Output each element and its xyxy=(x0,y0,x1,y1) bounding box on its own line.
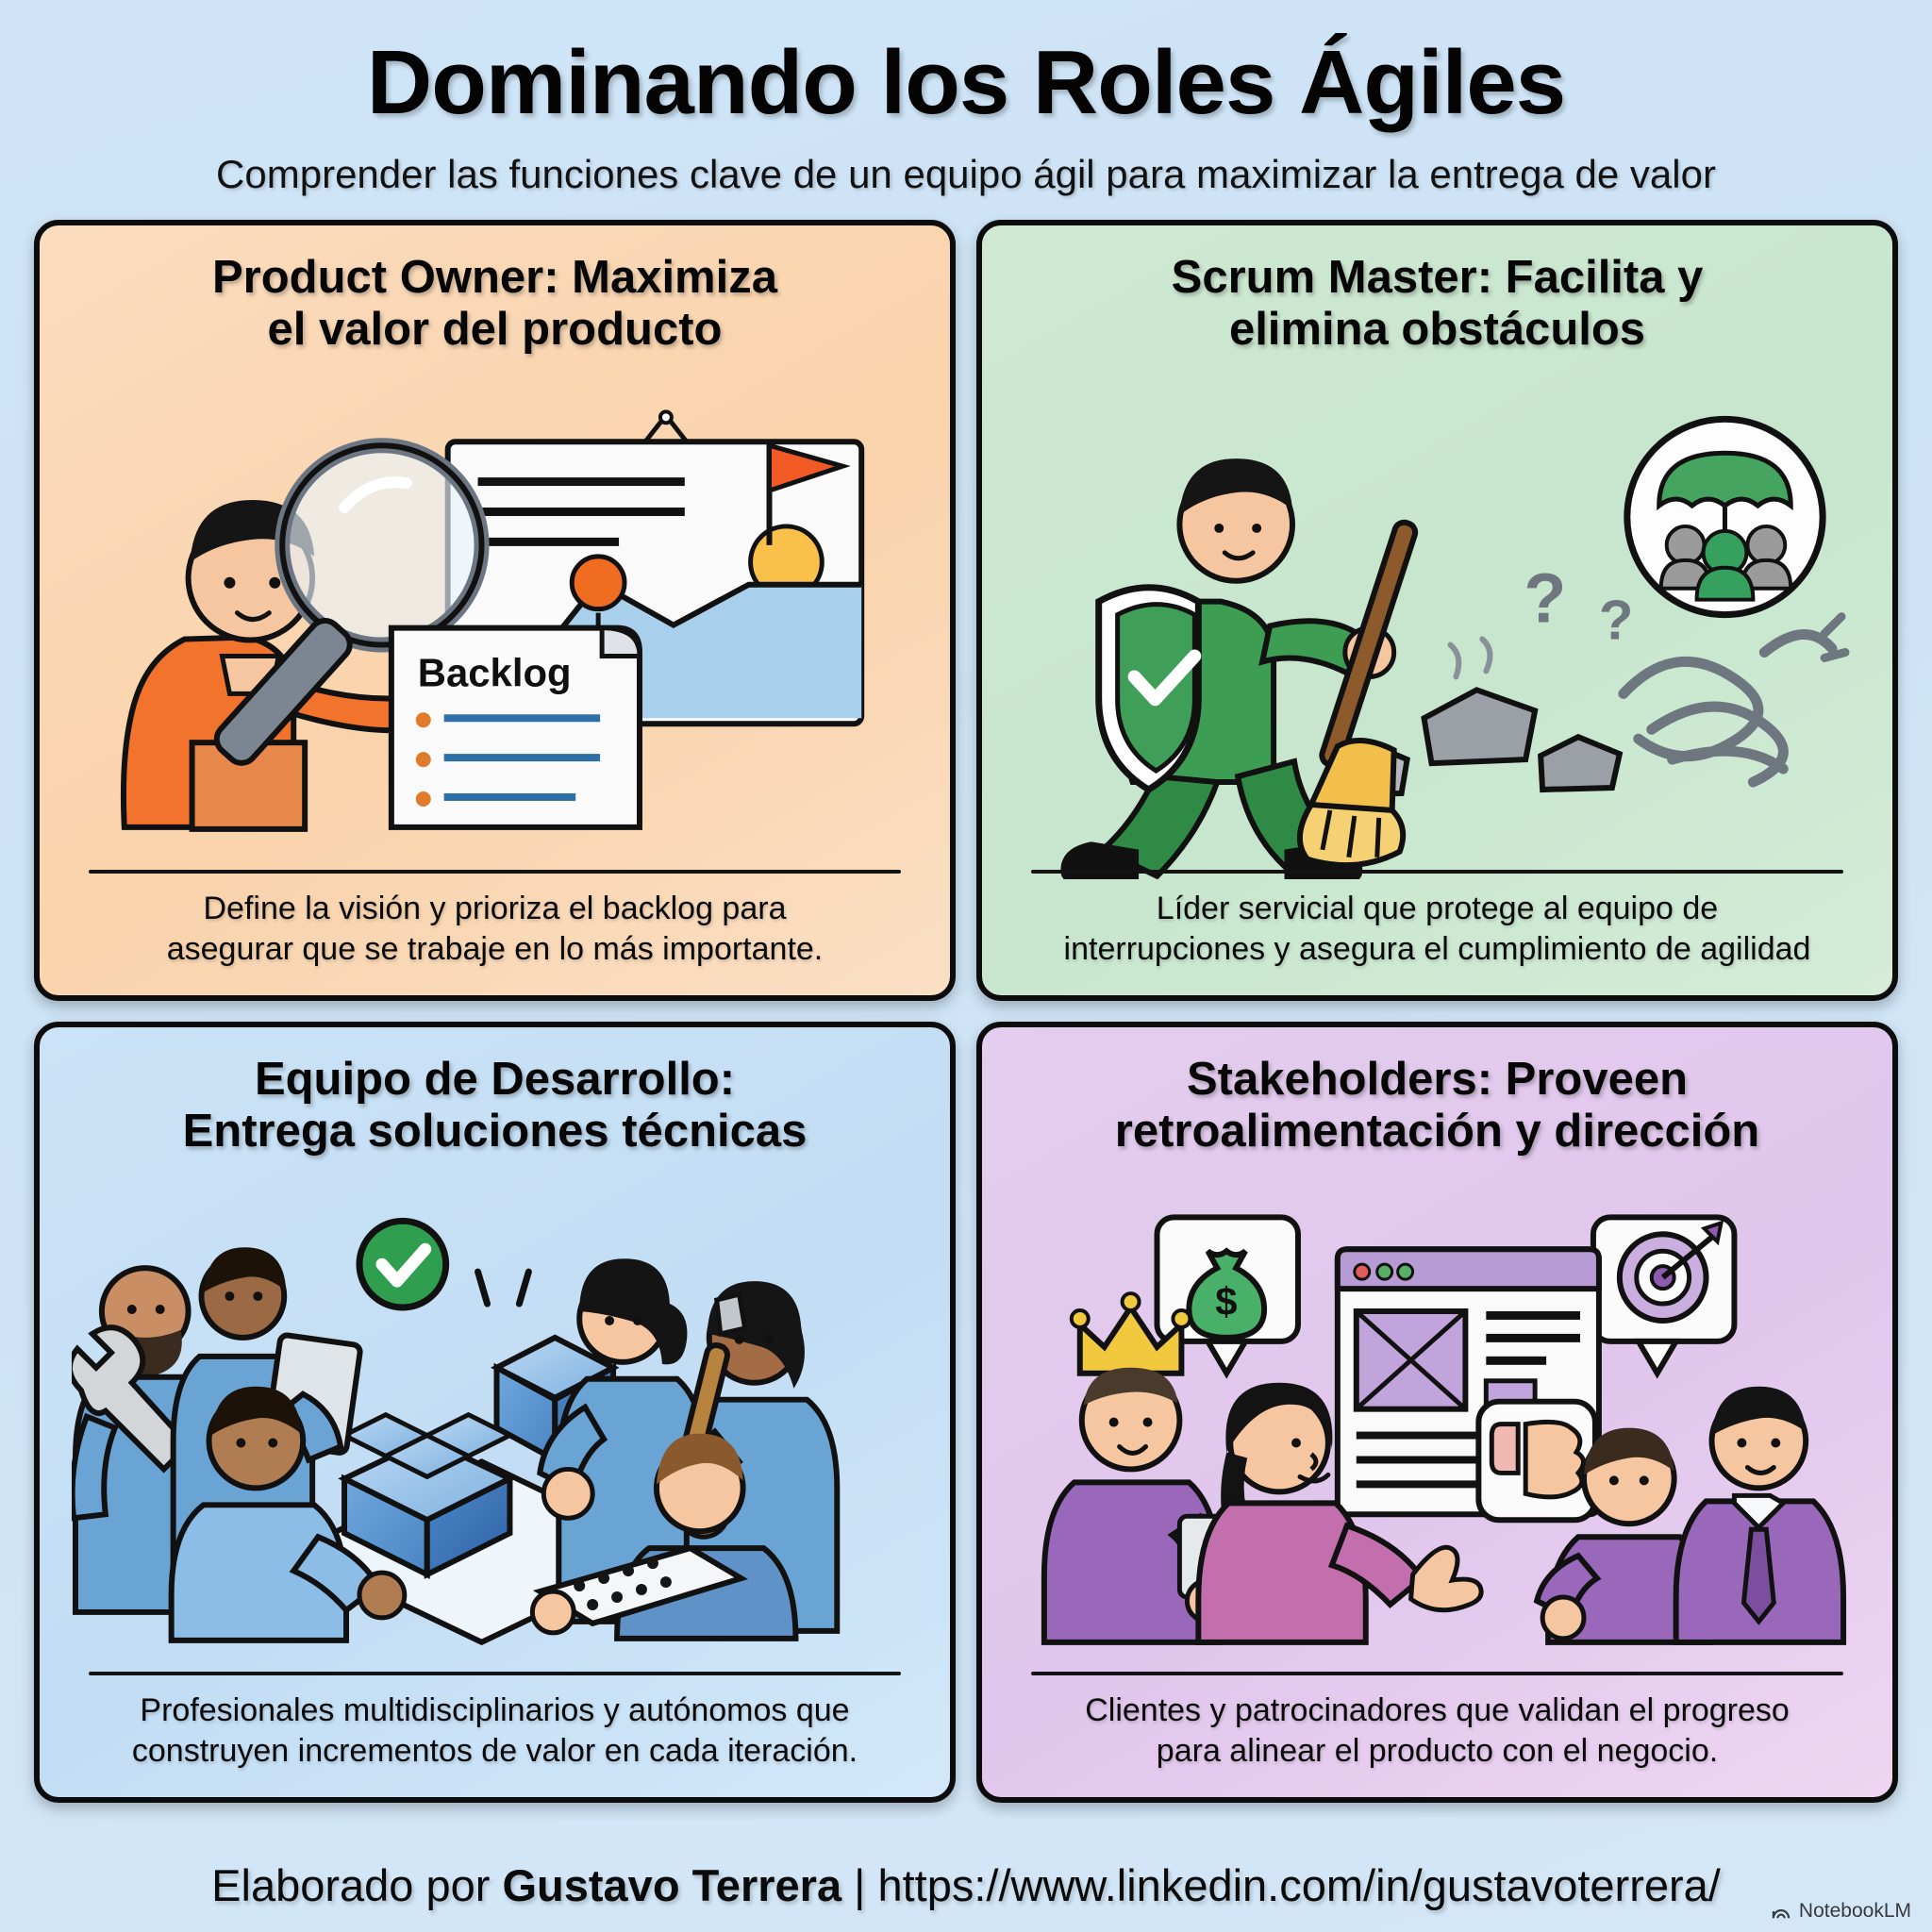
check-circle-icon xyxy=(359,1221,446,1307)
thumbs-down-icon xyxy=(1478,1401,1595,1520)
roles-grid: Product Owner: Maximiza el valor del pro… xyxy=(34,220,1898,1803)
backlog-document-icon: Backlog xyxy=(391,627,640,826)
svg-text:$: $ xyxy=(1215,1279,1237,1324)
question-mark-icon: ? ? xyxy=(1524,558,1633,651)
illustration-stakeholders: $ xyxy=(1014,1163,1860,1681)
svg-text:?: ? xyxy=(1524,558,1566,637)
ground-line xyxy=(1031,1672,1843,1675)
role-card-product-owner[interactable]: Product Owner: Maximiza el valor del pro… xyxy=(34,220,956,1001)
role-card-stakeholders[interactable]: Stakeholders: Proveen retroalimentación … xyxy=(976,1022,1898,1803)
notebooklm-arc-icon xyxy=(1771,1903,1791,1920)
card-caption-stakeholders: Clientes y patrocinadores que validan el… xyxy=(982,1681,1892,1797)
broom-icon xyxy=(1300,520,1418,865)
role-card-scrum-master[interactable]: Scrum Master: Facilita y elimina obstácu… xyxy=(976,220,1898,1001)
footer-prefix: Elaborado por xyxy=(211,1860,502,1910)
card-caption-product-owner: Define la visión y prioriza el backlog p… xyxy=(40,879,950,995)
target-icon xyxy=(1593,1217,1735,1373)
card-caption-scrum-master: Líder servicial que protege al equipo de… xyxy=(982,879,1892,995)
card-title-equipo-desarrollo: Equipo de Desarrollo: Entrega soluciones… xyxy=(40,1027,950,1158)
page-subtitle: Comprender las funciones clave de un equ… xyxy=(0,152,1932,197)
card-title-stakeholders: Stakeholders: Proveen retroalimentación … xyxy=(982,1027,1892,1158)
notebooklm-label: NotebookLM xyxy=(1799,1900,1911,1923)
umbrella-team-icon xyxy=(1627,419,1823,614)
footer-attribution: Elaborado por Gustavo Terrera | https://… xyxy=(0,1859,1932,1911)
footer-separator: | xyxy=(841,1860,877,1910)
card-caption-equipo-desarrollo: Profesionales multidisciplinarios y autó… xyxy=(40,1681,950,1797)
footer-url[interactable]: https://www.linkedin.com/in/gustavoterre… xyxy=(877,1860,1720,1910)
illustration-product-owner: Backlog xyxy=(72,361,918,879)
sparkle-icon xyxy=(478,1272,529,1304)
ground-line xyxy=(89,870,901,874)
footer-author: Gustavo Terrera xyxy=(502,1860,841,1910)
page-title: Dominando los Roles Ágiles xyxy=(0,36,1932,131)
stakeholder-person-tie xyxy=(1676,1386,1843,1641)
thumbs-up-icon xyxy=(1411,1547,1482,1609)
illustration-equipo-desarrollo xyxy=(72,1163,918,1681)
infographic-header: Dominando los Roles Ágiles Comprender la… xyxy=(0,0,1932,197)
shield-check-icon xyxy=(1099,587,1199,789)
ground-line xyxy=(89,1672,901,1675)
illustration-scrum-master: ? ? xyxy=(1014,361,1860,879)
backlog-label: Backlog xyxy=(418,650,572,694)
card-title-product-owner: Product Owner: Maximiza el valor del pro… xyxy=(40,225,950,356)
svg-text:?: ? xyxy=(1599,588,1634,651)
card-title-scrum-master: Scrum Master: Facilita y elimina obstácu… xyxy=(982,225,1892,356)
tangled-cable-icon xyxy=(1624,616,1845,781)
ground-line xyxy=(1031,870,1843,874)
role-card-equipo-desarrollo[interactable]: Equipo de Desarrollo: Entrega soluciones… xyxy=(34,1022,956,1803)
notebooklm-watermark: NotebookLM xyxy=(1771,1900,1911,1923)
